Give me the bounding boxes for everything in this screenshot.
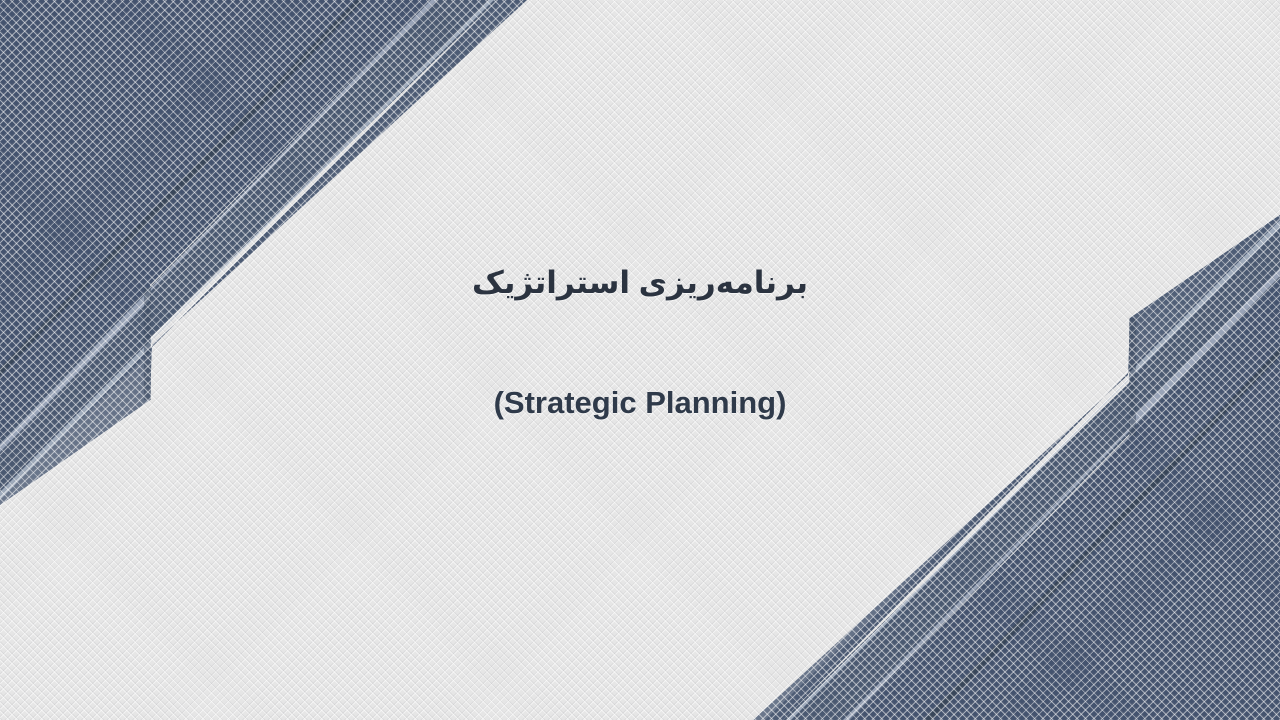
slide-subtitle-english: (Strategic Planning) — [0, 385, 1280, 421]
slide-title-persian: برنامه‌ریزی استراتژیک — [0, 265, 1280, 301]
presentation-slide: برنامه‌ریزی استراتژیک (Strategic Plannin… — [0, 0, 1280, 720]
slide-content: برنامه‌ریزی استراتژیک (Strategic Plannin… — [0, 0, 1280, 720]
